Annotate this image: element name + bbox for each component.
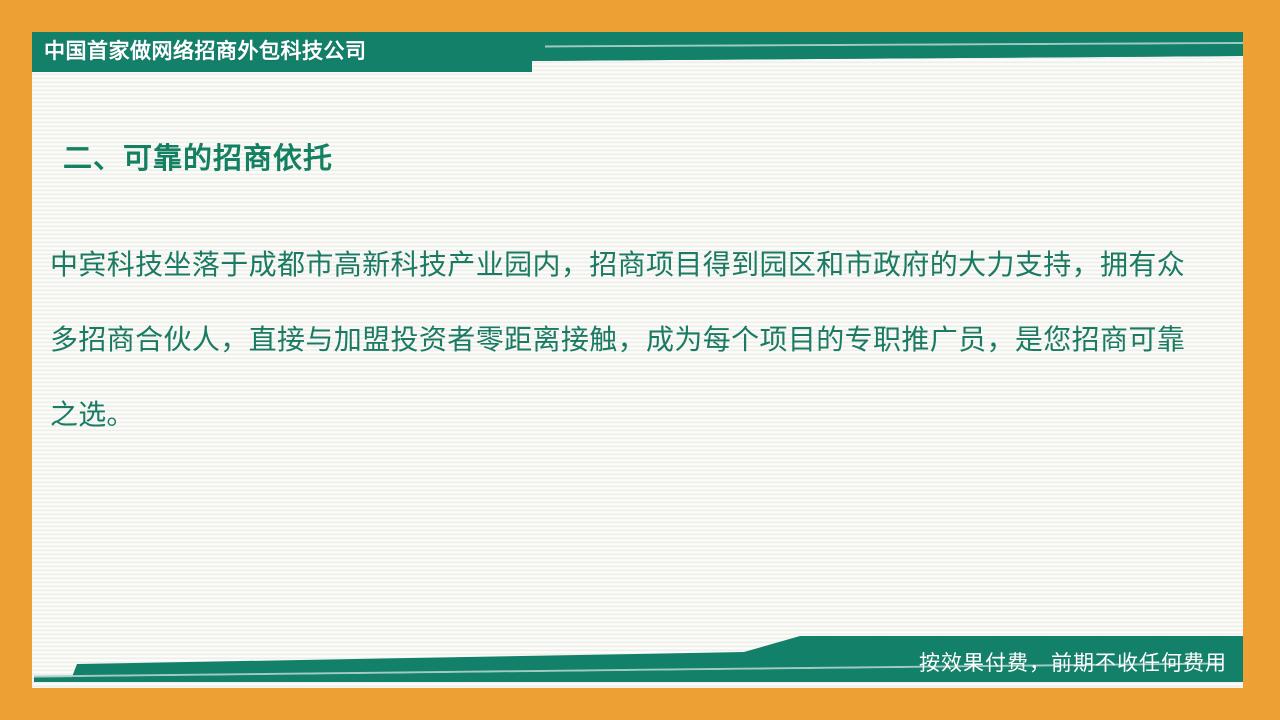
body-paragraph-container: 中宾科技坐落于成都市高新科技产业园内，招商项目得到园区和市政府的大力支持，拥有众…: [50, 228, 1185, 453]
body-paragraph: 中宾科技坐落于成都市高新科技产业园内，招商项目得到园区和市政府的大力支持，拥有众…: [50, 228, 1185, 453]
header-title: 中国首家做网络招商外包科技公司: [44, 33, 367, 71]
section-heading: 二、可靠的招商依托: [63, 135, 333, 177]
footer-tagline: 按效果付费，前期不收任何费用: [919, 645, 1227, 682]
slide-root: 中国首家做网络招商外包科技公司 二、可靠的招商依托 中宾科技坐落于成都市高新科技…: [0, 0, 1280, 720]
